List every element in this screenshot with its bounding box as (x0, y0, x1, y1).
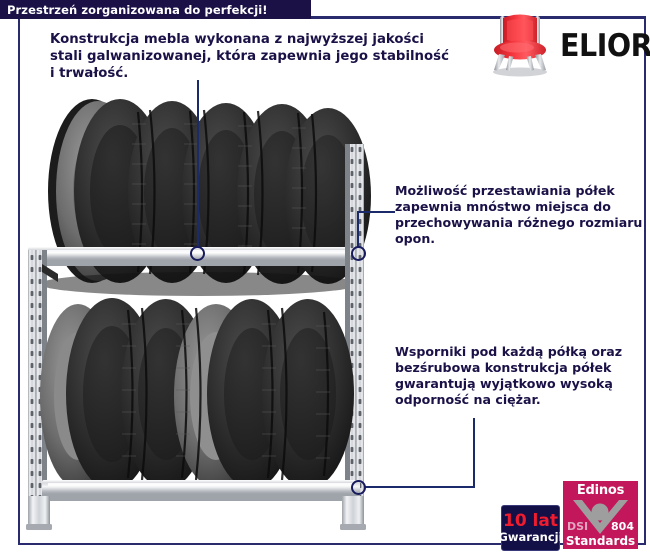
callout-construction-text: Konstrukcja mebla wykonana z najwyższej … (50, 32, 450, 82)
brand-name: ELIOR (560, 28, 650, 64)
tire-row-bottom (40, 298, 354, 490)
standards-badge-code-left: DSI (567, 520, 588, 533)
standards-badge: Edinos DSI 804 Standards (563, 481, 638, 549)
connector-ring-2 (351, 246, 366, 261)
headline-banner-text: Przestrzeń zorganizowana do perfekcji! (0, 3, 268, 17)
infographic-root: Przestrzeń zorganizowana do perfekcji! (0, 0, 650, 560)
warranty-badge-label: Gwarancji (498, 531, 562, 544)
connector-ring-1 (190, 246, 205, 261)
standards-badge-title: Edinos (563, 483, 638, 498)
rack-feet (26, 496, 366, 530)
callout-adjustable-shelves: Możliwość przestawiania półek zapewnia m… (395, 183, 645, 246)
product-image (20, 84, 380, 536)
headline-banner: Przestrzeń zorganizowana do perfekcji! (0, 0, 311, 19)
connector-line-2-horizontal (357, 211, 395, 213)
brand-logo: ELIOR (484, 10, 644, 80)
callout-adjustable-shelves-text: Możliwość przestawiania półek zapewnia m… (395, 183, 645, 246)
connector-line-2-vertical (357, 211, 359, 248)
callout-construction: Konstrukcja mebla wykonana z najwyższej … (50, 32, 450, 82)
connector-ring-3 (351, 480, 366, 495)
connector-line-3-vertical (473, 418, 475, 488)
connector-line-3-horizontal (365, 486, 475, 488)
red-chair-icon (484, 10, 556, 78)
callout-load-capacity-text: Wsporniki pod każdą półką oraz bezśrubow… (395, 344, 645, 407)
connector-line-1 (197, 80, 199, 248)
standards-badge-subtitle: Standards (563, 534, 638, 548)
callout-load-capacity: Wsporniki pod każdą półką oraz bezśrubow… (395, 344, 645, 407)
shelf-bottom (42, 480, 360, 501)
warranty-badge: 10 lat Gwarancji (501, 505, 560, 551)
warranty-badge-years: 10 lat (503, 513, 558, 530)
tire-rack-illustration (20, 84, 380, 536)
standards-badge-code-right: 804 (611, 520, 634, 533)
